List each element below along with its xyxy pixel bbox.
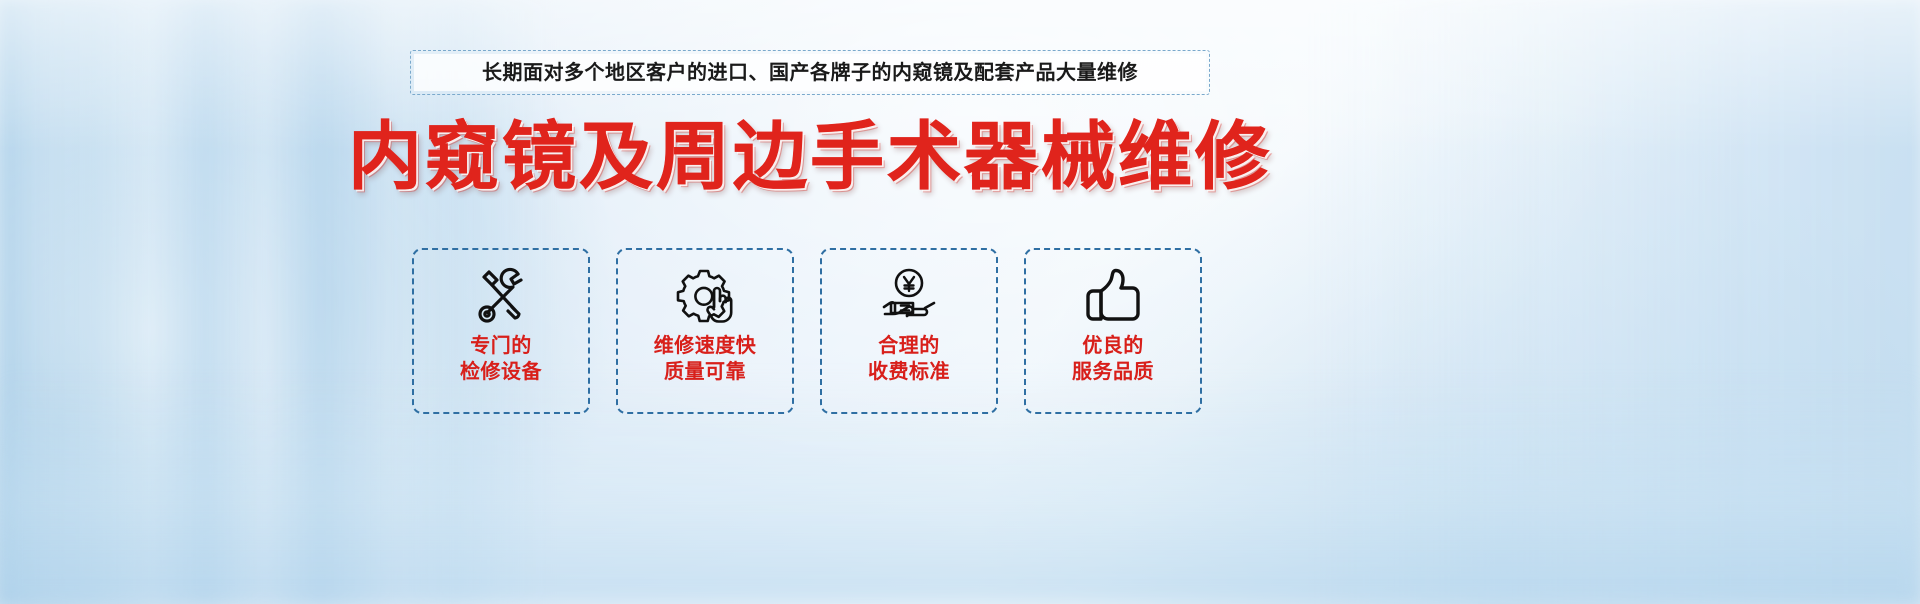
feature-card-label-line2: 质量可靠 bbox=[654, 360, 757, 386]
banner-content: 长期面对多个地区客户的进口、国产各牌子的内窥镜及配套产品大量维修 内窥镜及周边手… bbox=[0, 0, 1920, 604]
promo-banner: 长期面对多个地区客户的进口、国产各牌子的内窥镜及配套产品大量维修 内窥镜及周边手… bbox=[0, 0, 1920, 604]
feature-card-pricing[interactable]: 合理的 收费标准 bbox=[820, 248, 998, 414]
feature-card-label-line2: 服务品质 bbox=[1072, 360, 1154, 386]
feature-card-label-line1: 优良的 bbox=[1082, 335, 1144, 357]
feature-card-label: 优良的 服务品质 bbox=[1072, 334, 1154, 385]
thumbs-up-icon bbox=[1078, 264, 1148, 328]
feature-card-label-line1: 维修速度快 bbox=[654, 335, 757, 357]
feature-card-label-line1: 专门的 bbox=[470, 335, 532, 357]
feature-card-label: 合理的 收费标准 bbox=[868, 334, 950, 385]
feature-card-inspection-equipment[interactable]: 专门的 检修设备 bbox=[412, 248, 590, 414]
feature-card-label-line2: 检修设备 bbox=[460, 360, 542, 386]
page-title: 内窥镜及周边手术器械维修 bbox=[0, 118, 1620, 196]
feature-card-label: 专门的 检修设备 bbox=[460, 334, 542, 385]
feature-card-label-line2: 收费标准 bbox=[868, 360, 950, 386]
screwdriver-wrench-icon bbox=[466, 264, 536, 328]
hand-holding-yuan-coin-icon bbox=[874, 264, 944, 328]
feature-card-repair-speed[interactable]: 维修速度快 质量可靠 bbox=[616, 248, 794, 414]
gear-hand-pointer-icon bbox=[670, 264, 740, 328]
feature-card-label-line1: 合理的 bbox=[878, 335, 940, 357]
feature-card-label: 维修速度快 质量可靠 bbox=[654, 334, 757, 385]
subtitle-box: 长期面对多个地区客户的进口、国产各牌子的内窥镜及配套产品大量维修 bbox=[410, 50, 1210, 95]
subtitle-inner: 长期面对多个地区客户的进口、国产各牌子的内窥镜及配套产品大量维修 bbox=[414, 54, 1206, 91]
feature-card-service-quality[interactable]: 优良的 服务品质 bbox=[1024, 248, 1202, 414]
feature-card-list: 专门的 检修设备 bbox=[412, 248, 1202, 414]
subtitle-text: 长期面对多个地区客户的进口、国产各牌子的内窥镜及配套产品大量维修 bbox=[482, 63, 1138, 83]
